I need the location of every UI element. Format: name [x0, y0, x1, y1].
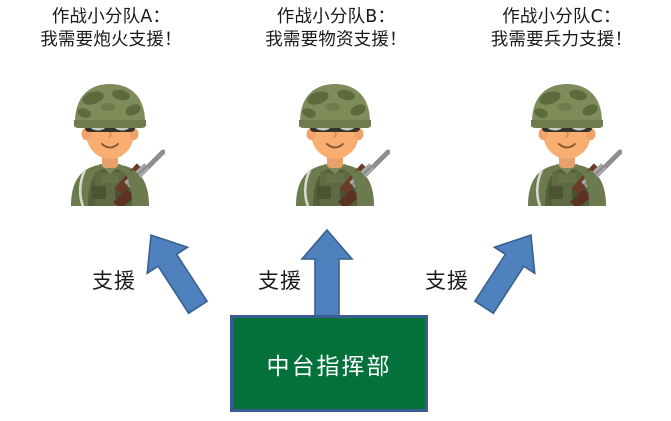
- unit-caption-c: 作战小分队C： 我需要兵力支援！: [452, 6, 671, 53]
- support-label-left: 支援: [92, 265, 136, 295]
- unit-b-caption-line2: 我需要物资支援！: [225, 29, 447, 52]
- support-label-right: 支援: [425, 265, 469, 295]
- unit-caption-b: 作战小分队B： 我需要物资支援！: [225, 6, 447, 53]
- command-center-box: 中台指挥部: [230, 315, 428, 412]
- support-label-middle: 支援: [258, 265, 302, 295]
- soldier-icon-b: [280, 78, 390, 206]
- unit-c-caption-line1: 作战小分队C：: [452, 6, 671, 29]
- unit-c-caption-line2: 我需要兵力支援！: [452, 29, 671, 52]
- command-center-label: 中台指挥部: [267, 347, 392, 381]
- diagram-canvas: 作战小分队A： 我需要炮火支援！: [0, 0, 671, 421]
- soldier-icon-c: [512, 78, 622, 206]
- arrow-right: [468, 226, 546, 318]
- unit-a-caption-line1: 作战小分队A：: [0, 6, 222, 29]
- arrow-left: [136, 226, 214, 318]
- unit-b-caption-line1: 作战小分队B：: [225, 6, 447, 29]
- arrow-middle: [296, 228, 358, 318]
- soldier-icon-a: [55, 78, 165, 206]
- unit-a-caption-line2: 我需要炮火支援！: [0, 29, 222, 52]
- unit-caption-a: 作战小分队A： 我需要炮火支援！: [0, 6, 222, 53]
